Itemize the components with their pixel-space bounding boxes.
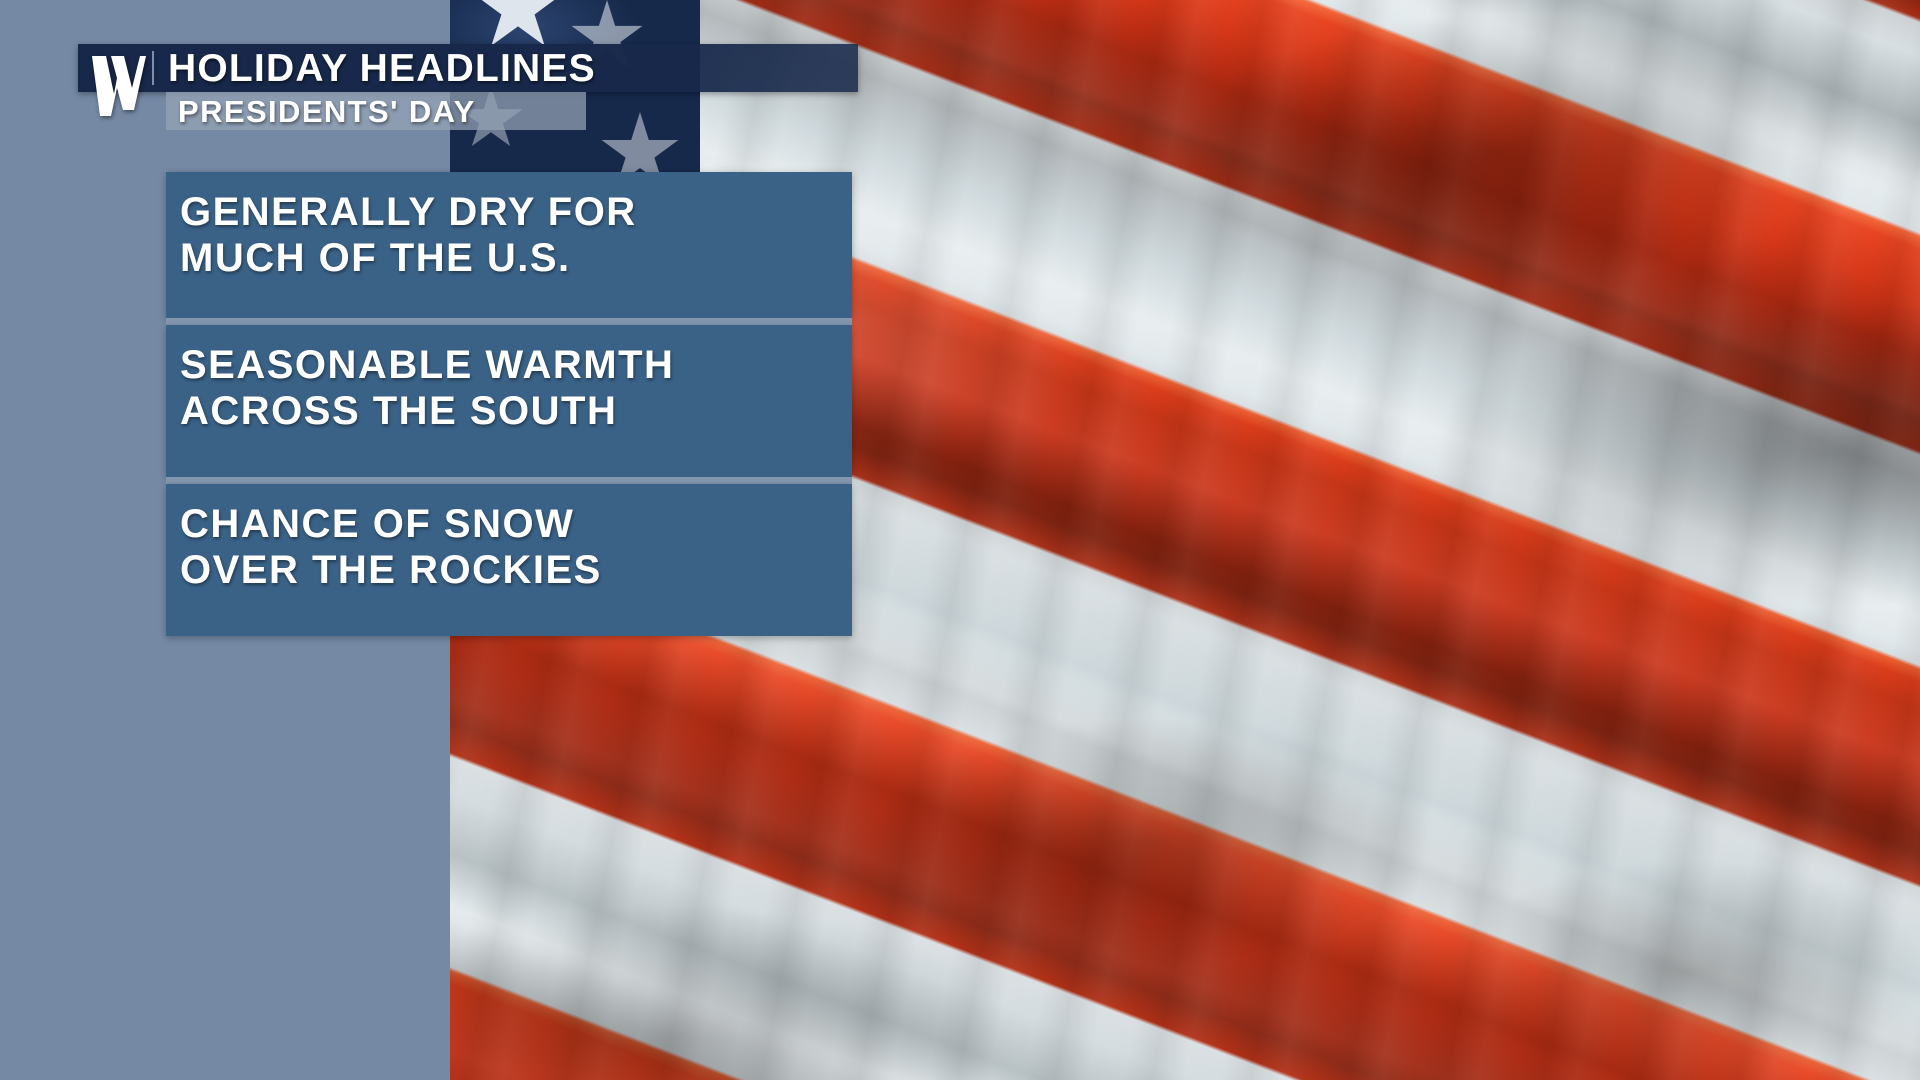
headline-box: GENERALLY DRY FOR MUCH OF THE U.S. — [166, 172, 852, 318]
header-bar: HOLIDAY HEADLINES — [78, 44, 858, 92]
headline-separator — [166, 318, 852, 325]
flag-star-icon — [600, 112, 680, 180]
headline-box: SEASONABLE WARMTH ACROSS THE SOUTH — [166, 325, 852, 477]
subtitle-bar: PRESIDENTS' DAY — [166, 92, 586, 130]
headline-line: MUCH OF THE U.S. — [180, 236, 830, 282]
logo-divider — [152, 51, 154, 85]
page-title: HOLIDAY HEADLINES — [168, 49, 596, 88]
headline-line: SEASONABLE WARMTH — [180, 343, 830, 389]
network-logo — [78, 44, 152, 92]
headline-line: CHANCE OF SNOW — [180, 502, 830, 548]
headline-line: OVER THE ROCKIES — [180, 548, 830, 594]
headline-separator — [166, 477, 852, 484]
weathernation-w-logo-icon — [90, 48, 146, 120]
subtitle-text: PRESIDENTS' DAY — [178, 96, 476, 127]
broadcast-graphic-screen: HOLIDAY HEADLINES PRESIDENTS' DAY GENERA… — [0, 0, 1920, 1080]
headline-box: CHANCE OF SNOW OVER THE ROCKIES — [166, 484, 852, 636]
headline-line: GENERALLY DRY FOR — [180, 190, 830, 236]
headline-line: ACROSS THE SOUTH — [180, 389, 830, 435]
